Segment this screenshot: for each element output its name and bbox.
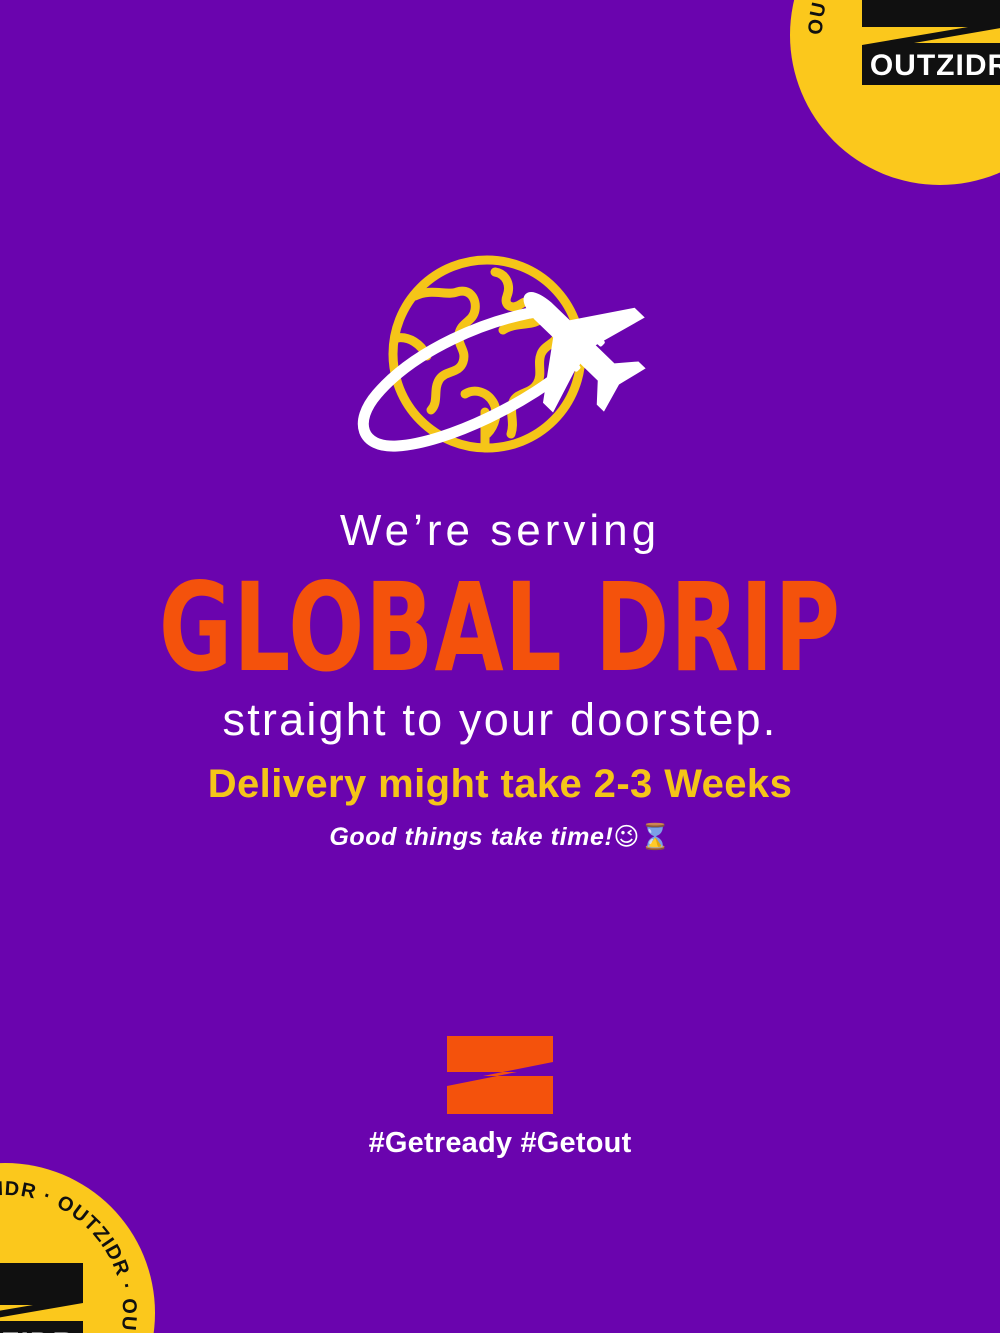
- delivery-reassurance-label: Good things take time!: [329, 823, 613, 851]
- brand-stamp-core-top-right: OUTZIDR: [856, 0, 1000, 91]
- headline-block: We’re serving GLOBAL DRIP straight to yo…: [0, 508, 1000, 743]
- headline-kicker: We’re serving: [0, 508, 1000, 554]
- wink-hourglass-emoji: 😉⌛: [613, 822, 670, 851]
- brand-stamp-top-right: OUTZIDR · OUTZIDR · OUTZIDR · OUTZIDR · …: [790, 0, 1000, 185]
- brand-stamp-core-text: OUTZIDR: [0, 1327, 75, 1333]
- poster-canvas: OUTZIDR · OUTZIDR · OUTZIDR · OUTZIDR · …: [0, 0, 1000, 1333]
- globe-airplane-artwork: [335, 252, 665, 478]
- outzidr-z-stamp-icon: OUTZIDR: [856, 0, 1000, 91]
- footer-brand-block: #Getready #Getout: [0, 1036, 1000, 1160]
- outzidr-z-logo-icon: [447, 1036, 553, 1114]
- headline-subline: straight to your doorstep.: [0, 696, 1000, 743]
- delivery-notice-block: Delivery might take 2-3 Weeks Good thing…: [0, 762, 1000, 852]
- delivery-time-text: Delivery might take 2-3 Weeks: [0, 762, 1000, 806]
- brand-stamp-core-bottom-left: OUTZIDR: [0, 1257, 89, 1333]
- brand-stamp-core-text: OUTZIDR: [870, 49, 1000, 82]
- brand-tagline: #Getready #Getout: [0, 1127, 1000, 1160]
- outzidr-z-stamp-icon: OUTZIDR: [0, 1257, 89, 1333]
- headline-big-word: GLOBAL DRIP: [0, 568, 1000, 690]
- delivery-reassurance-text: Good things take time!😉⌛: [0, 822, 1000, 852]
- brand-stamp-bottom-left: OUTZIDR · OUTZIDR · OUTZIDR · OUTZIDR · …: [0, 1163, 155, 1333]
- globe-with-airplane-icon: [335, 252, 665, 478]
